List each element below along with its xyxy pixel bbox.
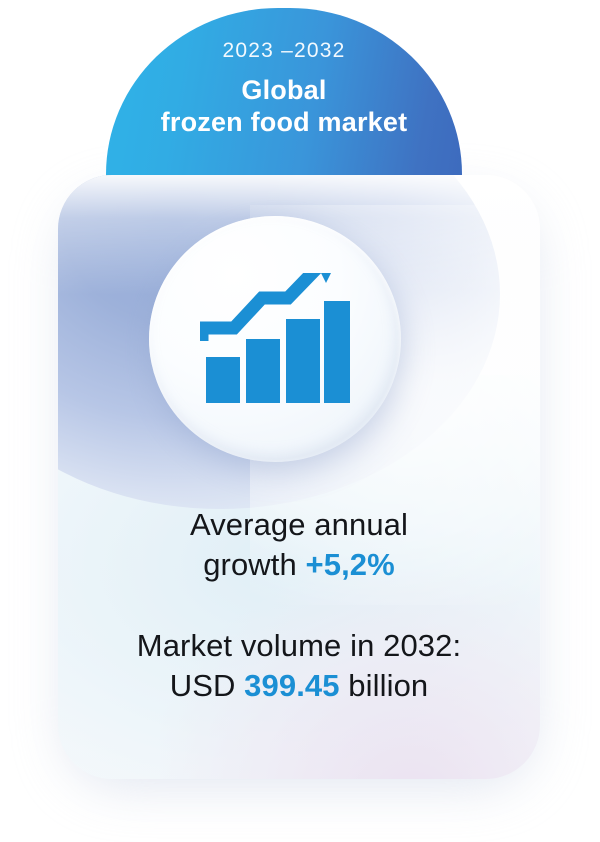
stat-market-volume: Market volume in 2032: USD 399.45 billio… <box>58 626 540 705</box>
header-text-group: 2023 –2032 Global frozen food market <box>106 8 462 180</box>
stat-volume-line-2: USD 399.45 billion <box>58 666 540 706</box>
stat-volume-prefix: USD <box>170 668 244 703</box>
medallion-face <box>149 216 401 462</box>
stat-volume-value: 399.45 <box>244 668 339 703</box>
header-year-range: 2023 –2032 <box>223 40 346 62</box>
stats-group: Average annual growth +5,2% Market volum… <box>58 505 540 706</box>
header-title-line-2: frozen food market <box>161 108 408 137</box>
growth-bar-chart-arrow-icon <box>200 273 350 405</box>
stat-volume-line-1: Market volume in 2032: <box>58 626 540 666</box>
icon-medallion <box>147 216 407 466</box>
stat-volume-suffix: billion <box>340 668 429 703</box>
stat-growth-line-2: growth +5,2% <box>58 545 540 585</box>
stat-growth-line-1: Average annual <box>58 505 540 545</box>
header-title-line-1: Global <box>241 76 326 105</box>
infographic-canvas: 2023 –2032 Global frozen food market <box>0 0 600 842</box>
header-dome-background: 2023 –2032 Global frozen food market <box>106 8 462 180</box>
stat-growth-value: +5,2% <box>306 547 395 582</box>
header-dome: 2023 –2032 Global frozen food market <box>106 8 462 180</box>
stat-growth-prefix: growth <box>203 547 305 582</box>
stat-average-annual-growth: Average annual growth +5,2% <box>58 505 540 584</box>
